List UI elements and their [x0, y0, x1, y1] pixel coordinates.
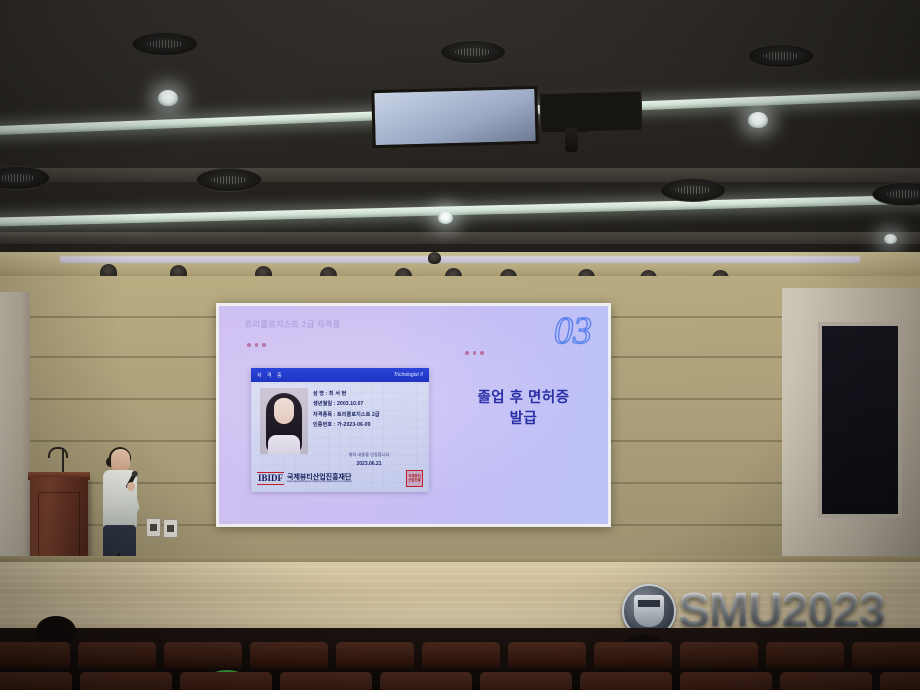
auditorium-seat: [880, 672, 920, 690]
auditorium-seat: [80, 672, 172, 690]
auditorium-seat: [780, 672, 872, 690]
certificate-portrait-photo: [260, 388, 308, 454]
headline-line-1: 졸업 후 면허증: [451, 388, 596, 409]
auditorium-seat: [250, 642, 328, 668]
auditorium-seat: [580, 672, 672, 690]
ibidf-logo: IBIDF: [257, 472, 284, 485]
ceiling-speaker-icon: [440, 40, 506, 64]
ceiling-spotlight: [884, 234, 897, 244]
auditorium-seat: [0, 642, 70, 668]
decor-dots-left: [247, 343, 266, 347]
auditorium-seat: [852, 642, 920, 668]
auditorium-seat: [336, 642, 414, 668]
certificate-field: 인증번호 : 가-2023-06-09: [313, 421, 425, 428]
ceiling-band-1: [0, 168, 920, 182]
certificate-fields: 성 명 : 최 서 현 생년월일 : 2003.10.07 자격종목 : 트리콜…: [313, 390, 425, 432]
ceiling-spotlight: [748, 112, 768, 128]
ceiling-vent-panel: [371, 86, 538, 148]
auditorium-seat: [164, 642, 242, 668]
issuer-name-en: International Beauty Industry Developmen…: [287, 481, 352, 484]
slide-title: 트리콜로지스트 2급 자격증: [245, 319, 340, 330]
soffit-glow: [60, 256, 860, 263]
issuer-names: 국제뷰티산업진흥재단 International Beauty Industry…: [287, 474, 352, 484]
ceiling-spotlight: [158, 90, 178, 106]
presenter-head: [111, 449, 130, 472]
ceiling-speaker-icon: [660, 178, 726, 202]
ceiling-light-strip-2: [0, 194, 920, 226]
certificate-image: 자 격 증 Trichologist II 성 명 : 최 서 현 생년월일 :…: [251, 368, 429, 492]
certificate-issuer: IBIDF 국제뷰티산업진흥재단 International Beauty In…: [257, 470, 423, 487]
ceiling-speaker-icon: [748, 44, 814, 68]
certificate-date: 2023.06.21: [313, 461, 425, 467]
ceiling-projector: [565, 128, 578, 152]
auditorium-seat: [180, 672, 272, 690]
auditorium-seat: [78, 642, 156, 668]
portrait-face: [274, 398, 294, 424]
certificate-header-kr: 자 격 증: [257, 372, 284, 379]
certificate-header-bar: 자 격 증 Trichologist II: [251, 368, 429, 382]
auditorium-seat: [480, 672, 572, 690]
ceiling-speaker-icon: [196, 168, 262, 192]
ceiling-band-2: [0, 232, 920, 244]
auditorium-seat: [680, 672, 772, 690]
certificate-field: 성 명 : 최 서 현: [313, 390, 425, 397]
auditorium-seat: [508, 642, 586, 668]
decor-dots-right: [465, 351, 484, 355]
auditorium-seat: [0, 672, 72, 690]
auditorium-seat: [594, 642, 672, 668]
wall-outlet: [146, 518, 161, 537]
certificate-field: 자격종목 : 트리콜로지스트 2급: [313, 411, 425, 418]
projection-screen: 트리콜로지스트 2급 자격증 03 졸업 후 면허증 발급 자 격 증 Tric…: [216, 303, 611, 527]
certificate-note: 위의 내용을 인증합니다: [313, 452, 425, 458]
auditorium-seat: [280, 672, 372, 690]
dark-recessed-panel: [818, 322, 902, 518]
headline-line-2: 발급: [451, 409, 596, 430]
presenter-hand: [127, 482, 135, 491]
auditorium-seat: [766, 642, 844, 668]
auditorium-seat: [380, 672, 472, 690]
ceiling-spotlight: [438, 212, 453, 224]
section-number: 03: [554, 312, 592, 350]
presentation-slide: 트리콜로지스트 2급 자격증 03 졸업 후 면허증 발급 자 격 증 Tric…: [219, 306, 608, 524]
certificate-field: 생년월일 : 2003.10.07: [313, 400, 425, 407]
auditorium-photo: 트리콜로지스트 2급 자격증 03 졸업 후 면허증 발급 자 격 증 Tric…: [0, 0, 920, 690]
ceiling: [0, 0, 920, 262]
official-seal-stamp: 국제뷰티 산업진흥: [406, 470, 423, 487]
audience-seating: [0, 628, 920, 690]
ceiling-speaker-icon: [0, 166, 50, 190]
wall-outlet: [163, 519, 178, 538]
ceiling-speaker-icon: [132, 32, 198, 56]
auditorium-seat: [680, 642, 758, 668]
portrait-shoulders: [268, 435, 300, 454]
slide-headline: 졸업 후 면허증 발급: [451, 388, 596, 430]
auditorium-seat: [422, 642, 500, 668]
certificate-header-en: Trichologist II: [394, 372, 423, 378]
ceiling-dark-recess: [539, 91, 642, 134]
track-spotlight: [428, 252, 441, 264]
left-wall-pillar: [0, 292, 30, 562]
